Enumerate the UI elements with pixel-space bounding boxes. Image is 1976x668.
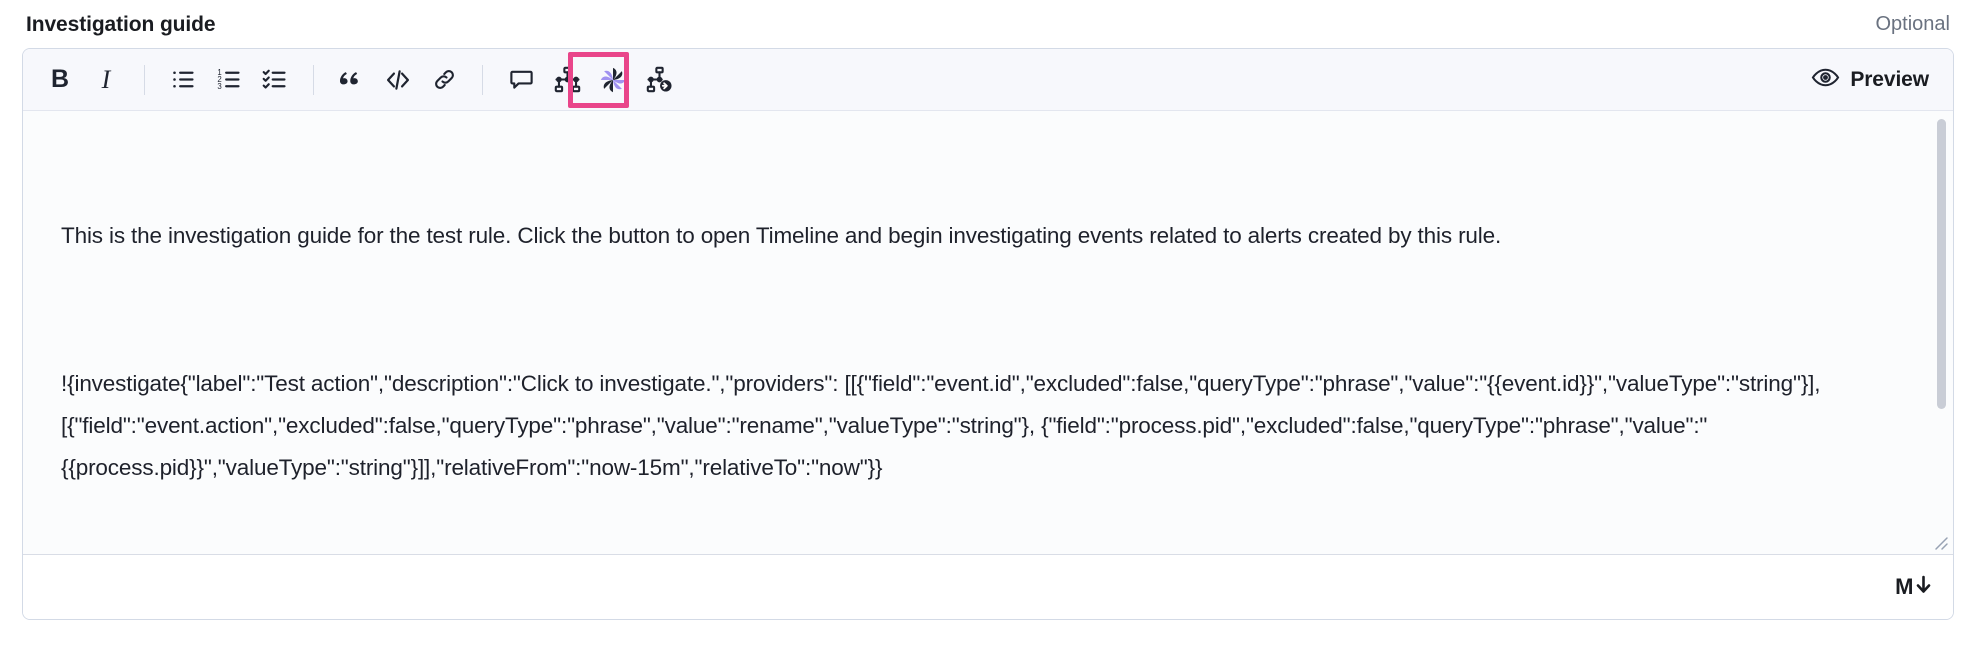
ordered-list-button[interactable]: 1 2 3 xyxy=(206,57,252,103)
page-title: Investigation guide xyxy=(26,14,215,35)
unordered-list-icon xyxy=(170,66,197,93)
toolbar-divider-2 xyxy=(313,65,314,95)
optional-label: Optional xyxy=(1876,14,1951,34)
editor-textarea[interactable]: This is the investigation guide for the … xyxy=(23,111,1923,555)
guide-paragraph-1: This is the investigation guide for the … xyxy=(61,215,1883,257)
timeline-icon xyxy=(554,66,581,93)
editor-footer: M xyxy=(23,555,1953,619)
toolbar-divider-1 xyxy=(144,65,145,95)
svg-text:3: 3 xyxy=(217,82,222,91)
editor-toolbar: B I xyxy=(23,49,1953,111)
toolbar-group-lists: 1 2 3 xyxy=(160,49,298,110)
osquery-icon xyxy=(598,65,628,95)
quote-button[interactable] xyxy=(329,57,375,103)
field-header: Investigation guide Optional xyxy=(0,0,1976,48)
editor-body[interactable]: This is the investigation guide for the … xyxy=(23,111,1953,555)
eye-icon xyxy=(1811,63,1840,97)
investigation-guide-field: Investigation guide Optional B I xyxy=(0,0,1976,668)
task-list-button[interactable] xyxy=(252,57,298,103)
preview-toggle[interactable]: Preview xyxy=(1811,63,1935,97)
osquery-button[interactable] xyxy=(590,57,636,103)
investigate-button[interactable] xyxy=(636,57,682,103)
unordered-list-button[interactable] xyxy=(160,57,206,103)
markdown-help-button[interactable]: M xyxy=(1895,574,1933,601)
link-button[interactable] xyxy=(421,57,467,103)
markdown-editor: B I xyxy=(22,48,1954,620)
comment-button[interactable] xyxy=(498,57,544,103)
task-list-icon xyxy=(262,66,289,93)
italic-icon: I xyxy=(102,67,111,93)
toolbar-group-text-style: B I xyxy=(37,49,129,110)
toolbar-buttons: B I xyxy=(37,49,682,110)
markdown-arrow-icon xyxy=(1914,574,1933,601)
markdown-icon: M xyxy=(1895,574,1913,600)
toolbar-group-security xyxy=(498,49,682,110)
guide-paragraph-2: !{investigate{"label":"Test action","des… xyxy=(61,363,1883,489)
bold-icon: B xyxy=(51,67,69,92)
timeline-button[interactable] xyxy=(544,57,590,103)
resize-handle-icon[interactable] xyxy=(1931,533,1949,551)
toolbar-divider-3 xyxy=(482,65,483,95)
comment-icon xyxy=(508,66,535,93)
italic-button[interactable]: I xyxy=(83,57,129,103)
code-button[interactable] xyxy=(375,57,421,103)
toolbar-group-insert xyxy=(329,49,467,110)
vertical-scrollbar-thumb[interactable] xyxy=(1937,119,1946,409)
preview-label: Preview xyxy=(1850,68,1929,92)
body-divider xyxy=(23,554,1953,555)
ordered-list-icon: 1 2 3 xyxy=(216,66,243,93)
code-icon xyxy=(384,66,412,94)
investigate-icon xyxy=(646,66,673,93)
quote-icon xyxy=(338,66,366,94)
bold-button[interactable]: B xyxy=(37,57,83,103)
link-icon xyxy=(431,66,458,93)
